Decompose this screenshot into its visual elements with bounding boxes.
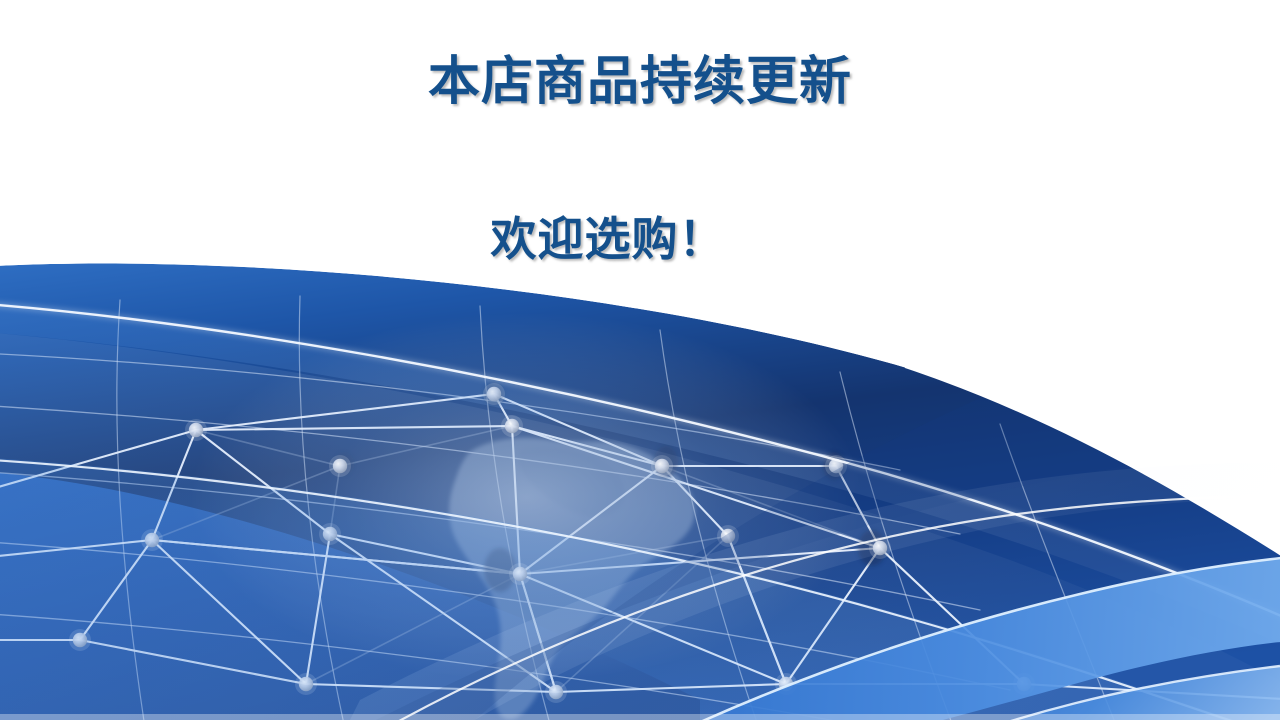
mesh-node-halo xyxy=(825,455,847,477)
mesh-node-halo xyxy=(185,419,207,441)
globe-limb-cut-2 xyxy=(640,258,1280,506)
mesh-node-halo xyxy=(483,383,505,405)
mesh-node xyxy=(189,423,203,437)
globe-body xyxy=(0,263,1280,720)
ribbon-edge-c xyxy=(0,458,1280,720)
mesh-node-halo xyxy=(545,681,567,703)
mesh-node-halo xyxy=(869,537,891,559)
ribbon-band-d xyxy=(620,556,1280,720)
continent-silhouette xyxy=(449,438,695,720)
ribbon-top-arc xyxy=(330,462,1280,720)
globe-lower-plate xyxy=(0,470,700,720)
mesh-node-halo xyxy=(69,629,91,651)
ribbon-band-c xyxy=(0,456,1280,720)
ribbon-band-e xyxy=(900,666,1280,720)
ribbon-swoop-dark xyxy=(300,300,1280,720)
bottom-fade xyxy=(0,714,1280,720)
ribbon-band-a xyxy=(0,330,1280,720)
top-right-white-wedge xyxy=(880,150,1280,568)
mesh-node-halo xyxy=(775,673,797,695)
globe-shadow-spots xyxy=(335,382,886,592)
mesh-node xyxy=(513,567,527,581)
mesh-node xyxy=(1017,677,1031,691)
mesh-node-halo xyxy=(319,523,341,545)
globe-sheen xyxy=(140,290,980,720)
globe-right-highlight xyxy=(560,286,1280,720)
mesh-node xyxy=(505,419,519,433)
ribbon-band-b xyxy=(0,300,1280,652)
mesh-node-halo xyxy=(717,525,739,547)
mesh-node xyxy=(549,685,563,699)
page-title: 本店商品持续更新 xyxy=(0,54,1280,111)
mesh-node xyxy=(299,677,313,691)
presentation-slide: 本店商品持续更新 欢迎选购！ xyxy=(0,0,1280,720)
globe-right-edge-arc xyxy=(700,300,1280,640)
mesh-node xyxy=(487,387,501,401)
mesh-node-halo xyxy=(329,455,351,477)
mesh-node xyxy=(779,677,793,691)
mesh-node xyxy=(333,459,347,473)
ribbon-glow-b xyxy=(0,302,1280,624)
mesh-node-halo xyxy=(1013,673,1035,695)
mesh-node-halo xyxy=(651,455,673,477)
ribbon-edge-b xyxy=(0,302,1280,624)
mesh-node xyxy=(323,527,337,541)
mesh-node xyxy=(655,459,669,473)
network-mesh xyxy=(0,296,1280,720)
mesh-node-halo xyxy=(295,673,317,695)
ribbon-edge-e xyxy=(900,666,1280,720)
mesh-node xyxy=(873,541,887,555)
mesh-node-halo xyxy=(501,415,523,437)
mesh-node xyxy=(721,529,735,543)
mesh-node-group xyxy=(69,383,1035,703)
globe-right-limb-visible xyxy=(620,268,1280,720)
ribbon-edge-d xyxy=(620,556,1280,720)
mesh-node xyxy=(145,533,159,547)
mesh-node-halo xyxy=(509,563,531,585)
mesh-node xyxy=(829,459,843,473)
page-subtitle: 欢迎选购！ xyxy=(0,214,1248,265)
mesh-node xyxy=(73,633,87,647)
mesh-node-halo xyxy=(141,529,163,551)
